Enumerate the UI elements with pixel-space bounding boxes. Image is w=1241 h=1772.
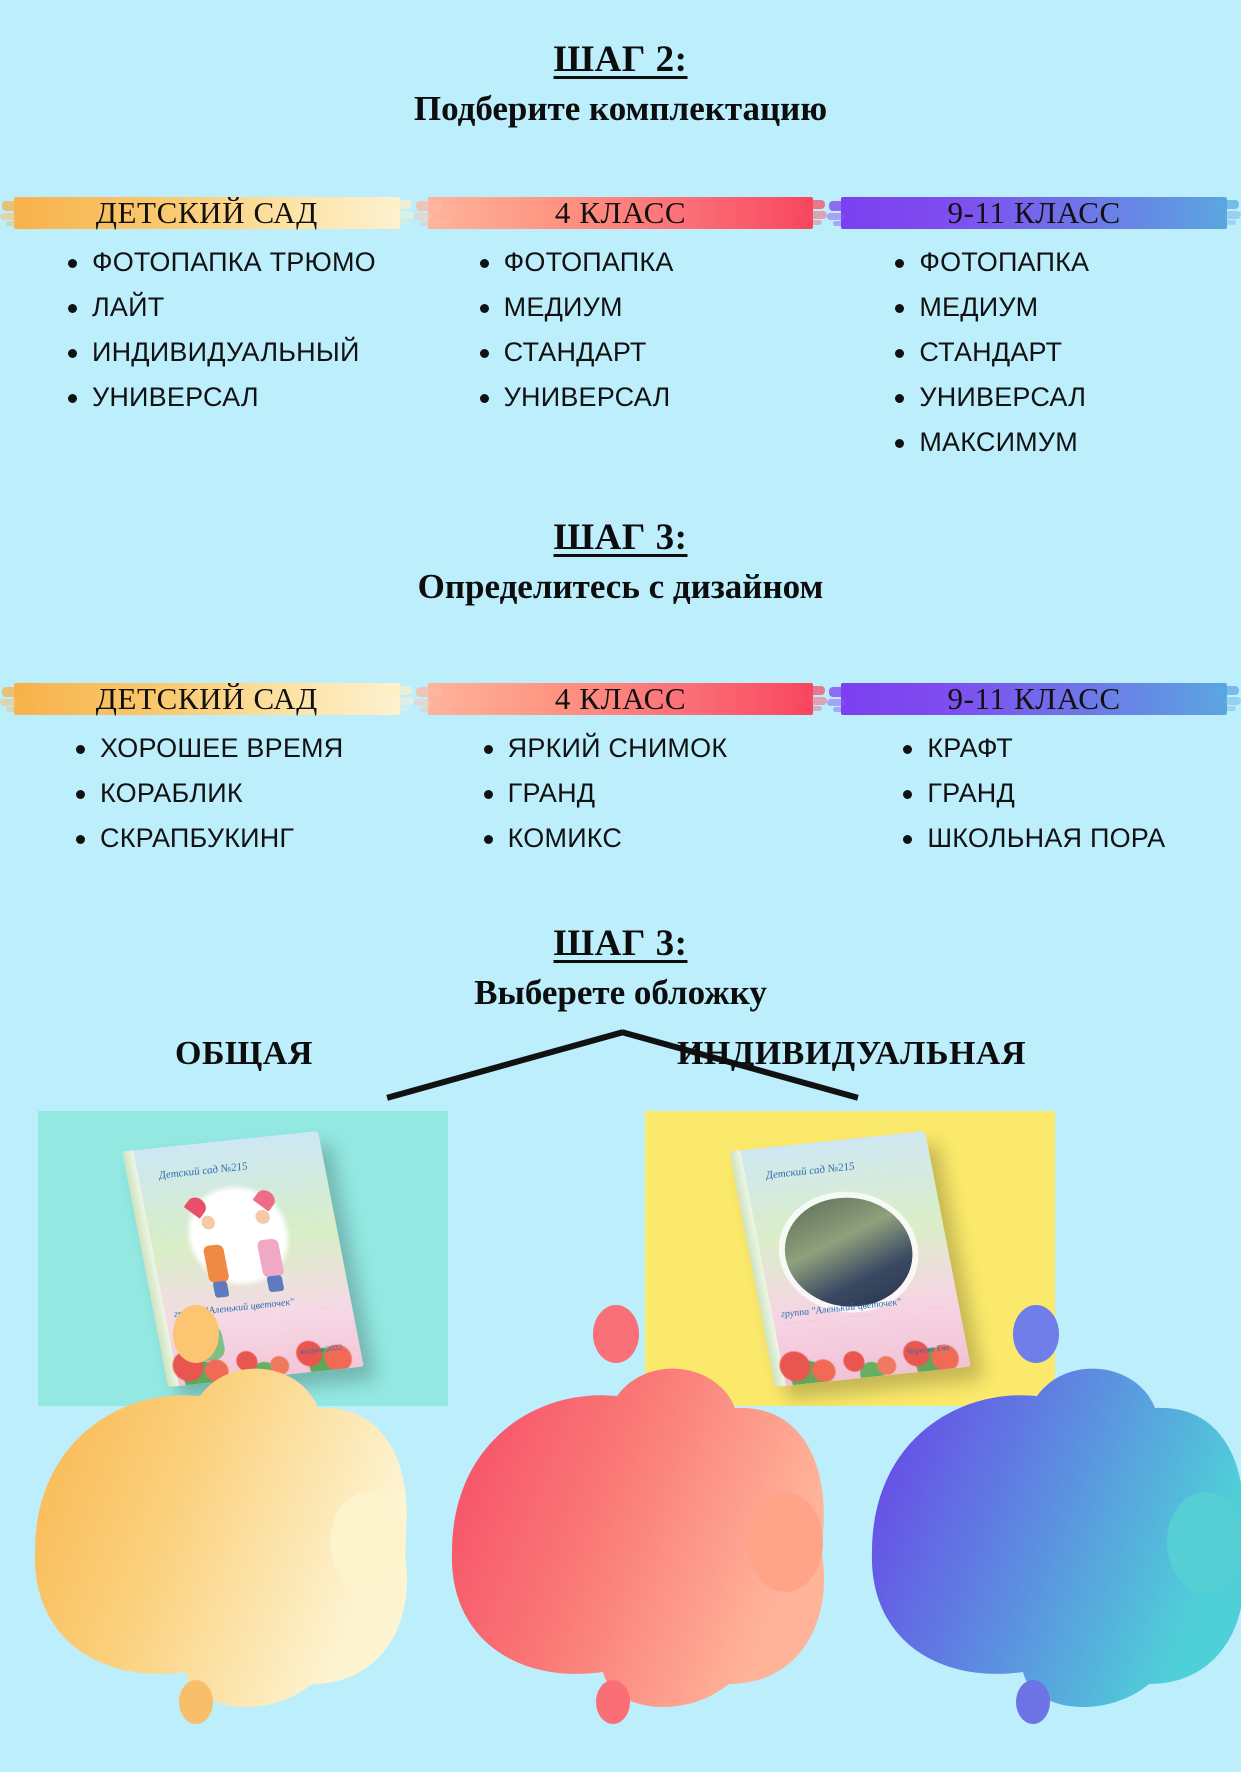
column-kindergarten-packages: ДЕТСКИЙ САД ФОТОПАПКА ТРЮМО ЛАЙТ ИНДИВИД… <box>0 191 414 474</box>
list-item: ГРАНД <box>893 780 1241 825</box>
list-item: КОМИКС <box>474 825 828 870</box>
list-grade4-designs: ЯРКИЙ СНИМОК ГРАНД КОМИКС <box>414 721 828 870</box>
list-item: МЕДИУМ <box>885 294 1241 339</box>
blob-pink <box>452 1305 824 1724</box>
step-3-design-label: ШАГ 3: <box>554 516 688 560</box>
list-item: КОРАБЛИК <box>66 780 414 825</box>
list-item: ГРАНД <box>474 780 828 825</box>
step-2-heading: ШАГ 2: Подберите комплектацию <box>0 0 1241 131</box>
list-item: УНИВЕРСАЛ <box>885 384 1241 429</box>
step-3-design-subtitle: Определитесь с дизайном <box>0 564 1241 610</box>
step-2-subtitle: Подберите комплектацию <box>0 86 1241 132</box>
banner-kindergarten-label: ДЕТСКИЙ САД <box>96 195 318 231</box>
packages-columns: ДЕТСКИЙ САД ФОТОПАПКА ТРЮМО ЛАЙТ ИНДИВИД… <box>0 191 1241 474</box>
banner-kindergarten-2: ДЕТСКИЙ САД <box>0 677 414 721</box>
banner-grade4-2: 4 КЛАСС <box>414 677 828 721</box>
list-item: СКРАПБУКИНГ <box>66 825 414 870</box>
list-item: УНИВЕРСАЛ <box>470 384 828 429</box>
step-3-cover-heading: ШАГ 3: Выберете обложку <box>0 922 1241 1015</box>
list-item: ФОТОПАПКА ТРЮМО <box>58 249 414 294</box>
step-2-label: ШАГ 2: <box>554 38 688 82</box>
banner-grade4-2-label: 4 КЛАСС <box>555 681 686 717</box>
banner-grade4: 4 КЛАСС <box>414 191 828 235</box>
list-item: ИНДИВИДУАЛЬНЫЙ <box>58 339 414 384</box>
step-3-design-heading: ШАГ 3: Определитесь с дизайном <box>0 516 1241 609</box>
poster-page: ШАГ 2: Подберите комплектацию ДЕТСКИЙ СА… <box>0 0 1241 1772</box>
list-item: СТАНДАРТ <box>470 339 828 384</box>
banner-kindergarten-2-label: ДЕТСКИЙ САД <box>96 681 318 717</box>
list-grade911-packages: ФОТОПАПКА МЕДИУМ СТАНДАРТ УНИВЕРСАЛ МАКС… <box>827 235 1241 474</box>
column-grade911-packages: 9-11 КЛАСС ФОТОПАПКА МЕДИУМ СТАНДАРТ УНИ… <box>827 191 1241 474</box>
banner-grade4-label: 4 КЛАСС <box>555 195 686 231</box>
banner-grade911: 9-11 КЛАСС <box>827 191 1241 235</box>
list-item: ЯРКИЙ СНИМОК <box>474 735 828 780</box>
banner-kindergarten: ДЕТСКИЙ САД <box>0 191 414 235</box>
decorative-blobs <box>0 1292 1241 1772</box>
blob-orange <box>35 1305 407 1724</box>
banner-grade911-2-label: 9-11 КЛАСС <box>948 681 1121 717</box>
banner-grade911-label: 9-11 КЛАСС <box>948 195 1121 231</box>
list-item: ХОРОШЕЕ ВРЕМЯ <box>66 735 414 780</box>
banner-grade911-2: 9-11 КЛАСС <box>827 677 1241 721</box>
cover-option-individual-label[interactable]: ИНДИВИДУАЛЬНАЯ <box>677 1035 1026 1073</box>
list-item: УНИВЕРСАЛ <box>58 384 414 429</box>
blob-purple <box>872 1305 1241 1724</box>
album-illustration-kids <box>185 1195 297 1299</box>
column-kindergarten-designs: ДЕТСКИЙ САД ХОРОШЕЕ ВРЕМЯ КОРАБЛИК СКРАП… <box>0 677 414 870</box>
step-3-cover-label: ШАГ 3: <box>554 922 688 966</box>
list-item: ШКОЛЬНАЯ ПОРА <box>893 825 1241 870</box>
list-item: МЕДИУМ <box>470 294 828 339</box>
column-grade911-designs: 9-11 КЛАСС КРАФТ ГРАНД ШКОЛЬНАЯ ПОРА <box>827 677 1241 870</box>
list-grade911-designs: КРАФТ ГРАНД ШКОЛЬНАЯ ПОРА <box>827 721 1241 870</box>
list-item: СТАНДАРТ <box>885 339 1241 384</box>
list-kindergarten-packages: ФОТОПАПКА ТРЮМО ЛАЙТ ИНДИВИДУАЛЬНЫЙ УНИВ… <box>0 235 414 429</box>
cover-option-common-label[interactable]: ОБЩАЯ <box>175 1035 313 1073</box>
list-item: ФОТОПАПКА <box>470 249 828 294</box>
list-item: КРАФТ <box>893 735 1241 780</box>
list-item: МАКСИМУМ <box>885 429 1241 474</box>
design-columns: ДЕТСКИЙ САД ХОРОШЕЕ ВРЕМЯ КОРАБЛИК СКРАП… <box>0 677 1241 870</box>
list-kindergarten-designs: ХОРОШЕЕ ВРЕМЯ КОРАБЛИК СКРАПБУКИНГ <box>0 721 414 870</box>
list-item: ФОТОПАПКА <box>885 249 1241 294</box>
list-item: ЛАЙТ <box>58 294 414 339</box>
cover-choice-row: ОБЩАЯ ИНДИВИДУАЛЬНАЯ <box>0 1027 1241 1093</box>
column-grade4-designs: 4 КЛАСС ЯРКИЙ СНИМОК ГРАНД КОМИКС <box>414 677 828 870</box>
column-grade4-packages: 4 КЛАСС ФОТОПАПКА МЕДИУМ СТАНДАРТ УНИВЕР… <box>414 191 828 474</box>
list-grade4-packages: ФОТОПАПКА МЕДИУМ СТАНДАРТ УНИВЕРСАЛ <box>414 235 828 429</box>
step-3-cover-subtitle: Выберете обложку <box>0 970 1241 1016</box>
